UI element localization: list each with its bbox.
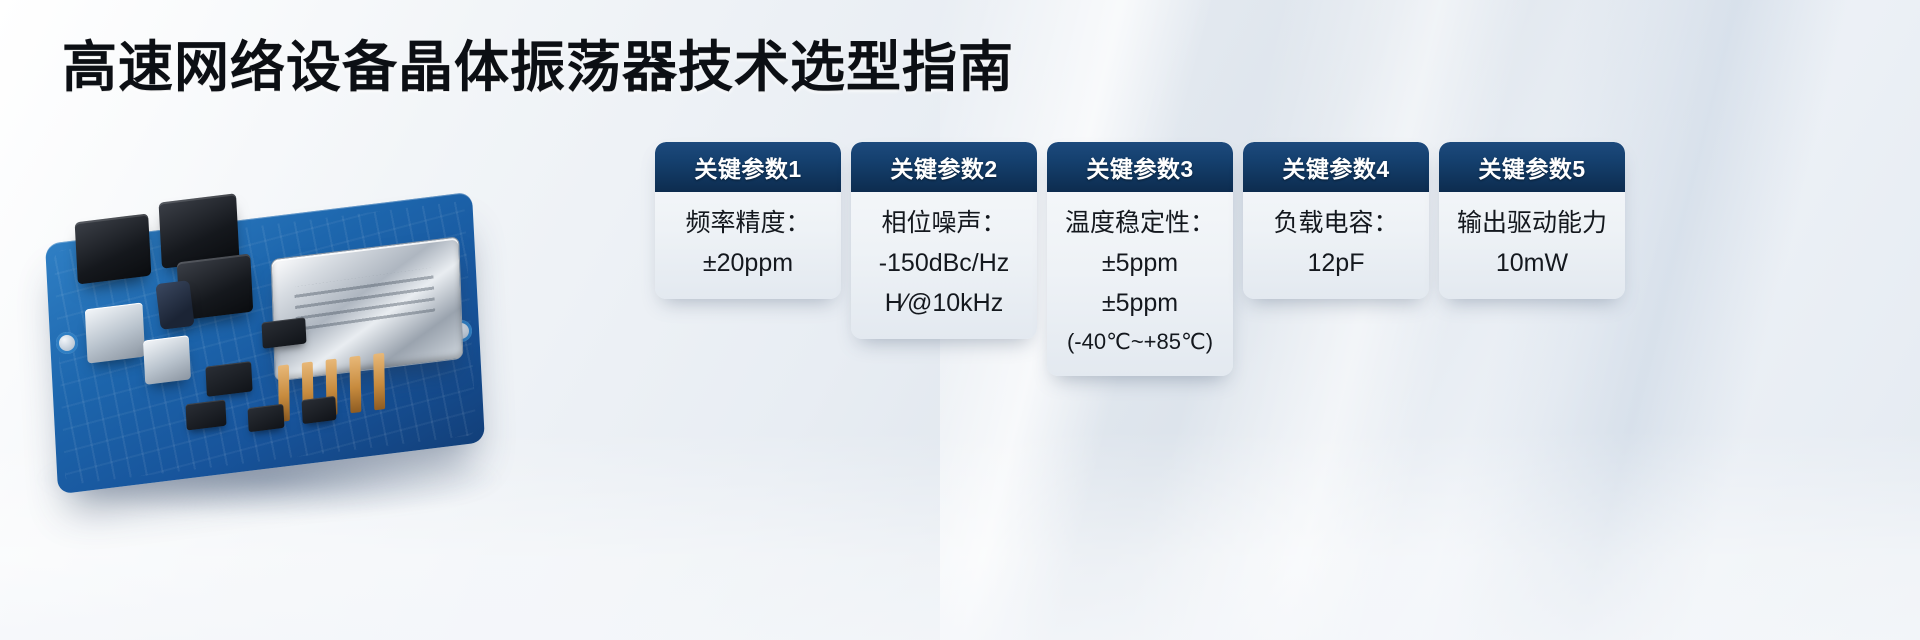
card-body-5: 输出驱动能力 10mW — [1439, 192, 1625, 299]
card-line: ±5ppm — [1102, 250, 1178, 277]
capacitor-component — [155, 280, 194, 330]
card-line: 频率精度： — [685, 210, 810, 237]
relay-component — [75, 213, 152, 284]
card-header-label: 关键参数3 — [1086, 150, 1193, 184]
card-body-4: 负载电容： 12pF — [1243, 192, 1429, 299]
card-line: ±20ppm — [703, 250, 793, 277]
parameter-card-list: 关键参数1 频率精度： ±20ppm 关键参数2 相位噪声： -150dBc/H… — [655, 142, 1625, 376]
smd-chip — [301, 396, 336, 424]
card-line: 10mW — [1496, 250, 1568, 277]
card-header-4: 关键参数4 — [1243, 142, 1429, 192]
oscillator-label-print — [294, 267, 435, 331]
card-body-1: 频率精度： ±20ppm — [655, 192, 841, 299]
card-header-label: 关键参数1 — [694, 150, 801, 184]
parameter-card-3[interactable]: 关键参数3 温度稳定性： ±5ppm ±5ppm (-40℃~+85℃) — [1047, 142, 1233, 376]
card-line: 温度稳定性： — [1065, 210, 1215, 237]
card-header-label: 关键参数5 — [1478, 150, 1585, 184]
product-photo — [10, 140, 530, 540]
card-line: -150dBc/Hz — [879, 250, 1010, 277]
parameter-card-1[interactable]: 关键参数1 频率精度： ±20ppm — [655, 142, 841, 299]
card-line: 相位噪声： — [881, 210, 1006, 237]
smd-chip — [185, 400, 226, 431]
parameter-card-2[interactable]: 关键参数2 相位噪声： -150dBc/Hz H⁄@10kHz — [851, 142, 1037, 339]
pin — [373, 353, 385, 411]
card-line: H⁄@10kHz — [885, 290, 1003, 317]
card-line: ±5ppm — [1102, 290, 1178, 317]
pin — [349, 356, 361, 414]
card-header-label: 关键参数2 — [890, 150, 997, 184]
slide-canvas: 高速网络设备晶体振荡器技术选型指南 关键参数1 — [0, 0, 1920, 640]
card-line: 负载电容： — [1273, 210, 1398, 237]
card-line: 12pF — [1308, 250, 1365, 277]
card-line: (-40℃~+85℃) — [1067, 330, 1213, 354]
rj45-port — [143, 335, 191, 385]
card-line: 输出驱动能力 — [1457, 210, 1607, 237]
smd-chip — [248, 404, 285, 432]
mounting-hole-icon — [56, 332, 78, 354]
parameter-card-5[interactable]: 关键参数5 输出驱动能力 10mW — [1439, 142, 1625, 299]
card-header-label: 关键参数4 — [1282, 150, 1389, 184]
rj45-port — [85, 302, 145, 363]
smd-chip — [261, 317, 306, 348]
parameter-card-4[interactable]: 关键参数4 负载电容： 12pF — [1243, 142, 1429, 299]
card-header-1: 关键参数1 — [655, 142, 841, 192]
card-header-5: 关键参数5 — [1439, 142, 1625, 192]
card-header-2: 关键参数2 — [851, 142, 1037, 192]
smd-chip — [205, 361, 252, 397]
card-header-3: 关键参数3 — [1047, 142, 1233, 192]
card-body-2: 相位噪声： -150dBc/Hz H⁄@10kHz — [851, 192, 1037, 339]
card-body-3: 温度稳定性： ±5ppm ±5ppm (-40℃~+85℃) — [1047, 192, 1233, 376]
page-title: 高速网络设备晶体振荡器技术选型指南 — [62, 36, 1014, 99]
